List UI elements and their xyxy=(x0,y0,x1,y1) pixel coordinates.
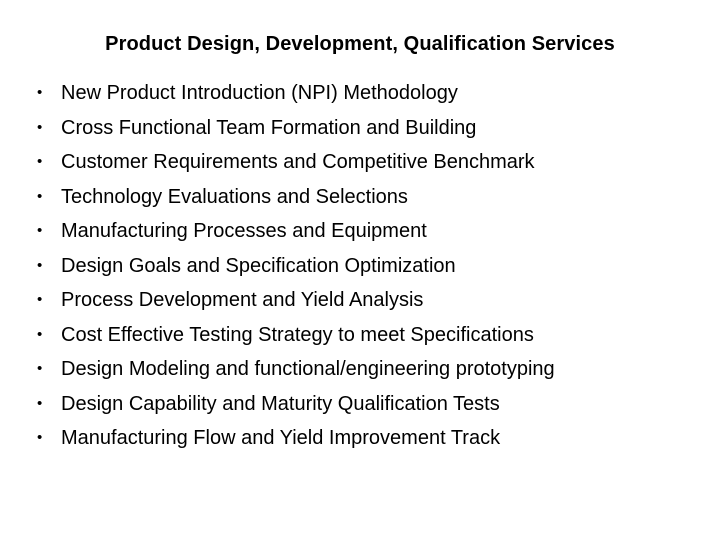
bullet-point-icon: • xyxy=(37,249,47,284)
list-item-label: Design Goals and Specification Optimizat… xyxy=(61,249,456,284)
list-item-label: Technology Evaluations and Selections xyxy=(61,180,408,215)
bullet-list: • New Product Introduction (NPI) Methodo… xyxy=(30,76,690,456)
list-item: • Design Capability and Maturity Qualifi… xyxy=(30,387,690,422)
bullet-point-icon: • xyxy=(37,180,47,215)
list-item: • Design Modeling and functional/enginee… xyxy=(30,352,690,387)
bullet-point-icon: • xyxy=(37,283,47,318)
list-item-label: Manufacturing Flow and Yield Improvement… xyxy=(61,421,500,456)
list-item-label: Process Development and Yield Analysis xyxy=(61,283,423,318)
slide-canvas: Product Design, Development, Qualificati… xyxy=(0,0,720,540)
list-item-label: New Product Introduction (NPI) Methodolo… xyxy=(61,76,458,111)
list-item-label: Customer Requirements and Competitive Be… xyxy=(61,145,535,180)
list-item: • Design Goals and Specification Optimiz… xyxy=(30,249,690,284)
list-item: • Manufacturing Flow and Yield Improveme… xyxy=(30,421,690,456)
bullet-point-icon: • xyxy=(37,387,47,422)
list-item-label: Manufacturing Processes and Equipment xyxy=(61,214,427,249)
bullet-point-icon: • xyxy=(37,76,47,111)
bullet-point-icon: • xyxy=(37,214,47,249)
list-item: • Cost Effective Testing Strategy to mee… xyxy=(30,318,690,353)
bullet-point-icon: • xyxy=(37,421,47,456)
bullet-point-icon: • xyxy=(37,352,47,387)
bullet-point-icon: • xyxy=(37,318,47,353)
list-item: • New Product Introduction (NPI) Methodo… xyxy=(30,76,690,111)
bullet-point-icon: • xyxy=(37,145,47,180)
list-item: • Technology Evaluations and Selections xyxy=(30,180,690,215)
list-item: • Process Development and Yield Analysis xyxy=(30,283,690,318)
list-item-label: Design Capability and Maturity Qualifica… xyxy=(61,387,500,422)
list-item: • Manufacturing Processes and Equipment xyxy=(30,214,690,249)
list-item-label: Cross Functional Team Formation and Buil… xyxy=(61,111,476,146)
bullet-point-icon: • xyxy=(37,111,47,146)
list-item-label: Cost Effective Testing Strategy to meet … xyxy=(61,318,534,353)
page-title: Product Design, Development, Qualificati… xyxy=(0,30,720,58)
list-item: • Customer Requirements and Competitive … xyxy=(30,145,690,180)
list-item-label: Design Modeling and functional/engineeri… xyxy=(61,352,555,387)
list-item: • Cross Functional Team Formation and Bu… xyxy=(30,111,690,146)
